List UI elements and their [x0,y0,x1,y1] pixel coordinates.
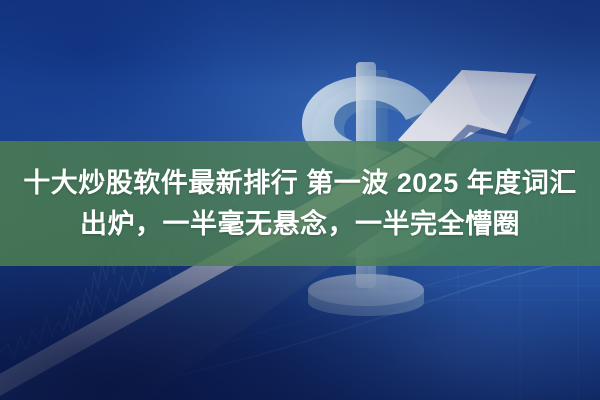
headline-line-2: 出炉，一半毫无悬念，一半完全懵圈 [80,204,520,245]
headline-band: 十大炒股软件最新排行 第一波 2025 年度词汇 出炉，一半毫无悬念，一半完全懵… [0,141,600,266]
headline-line-1: 十大炒股软件最新排行 第一波 2025 年度词汇 [23,163,577,204]
banner-canvas: 十大炒股软件最新排行 第一波 2025 年度词汇 出炉，一半毫无悬念，一半完全懵… [0,0,600,400]
